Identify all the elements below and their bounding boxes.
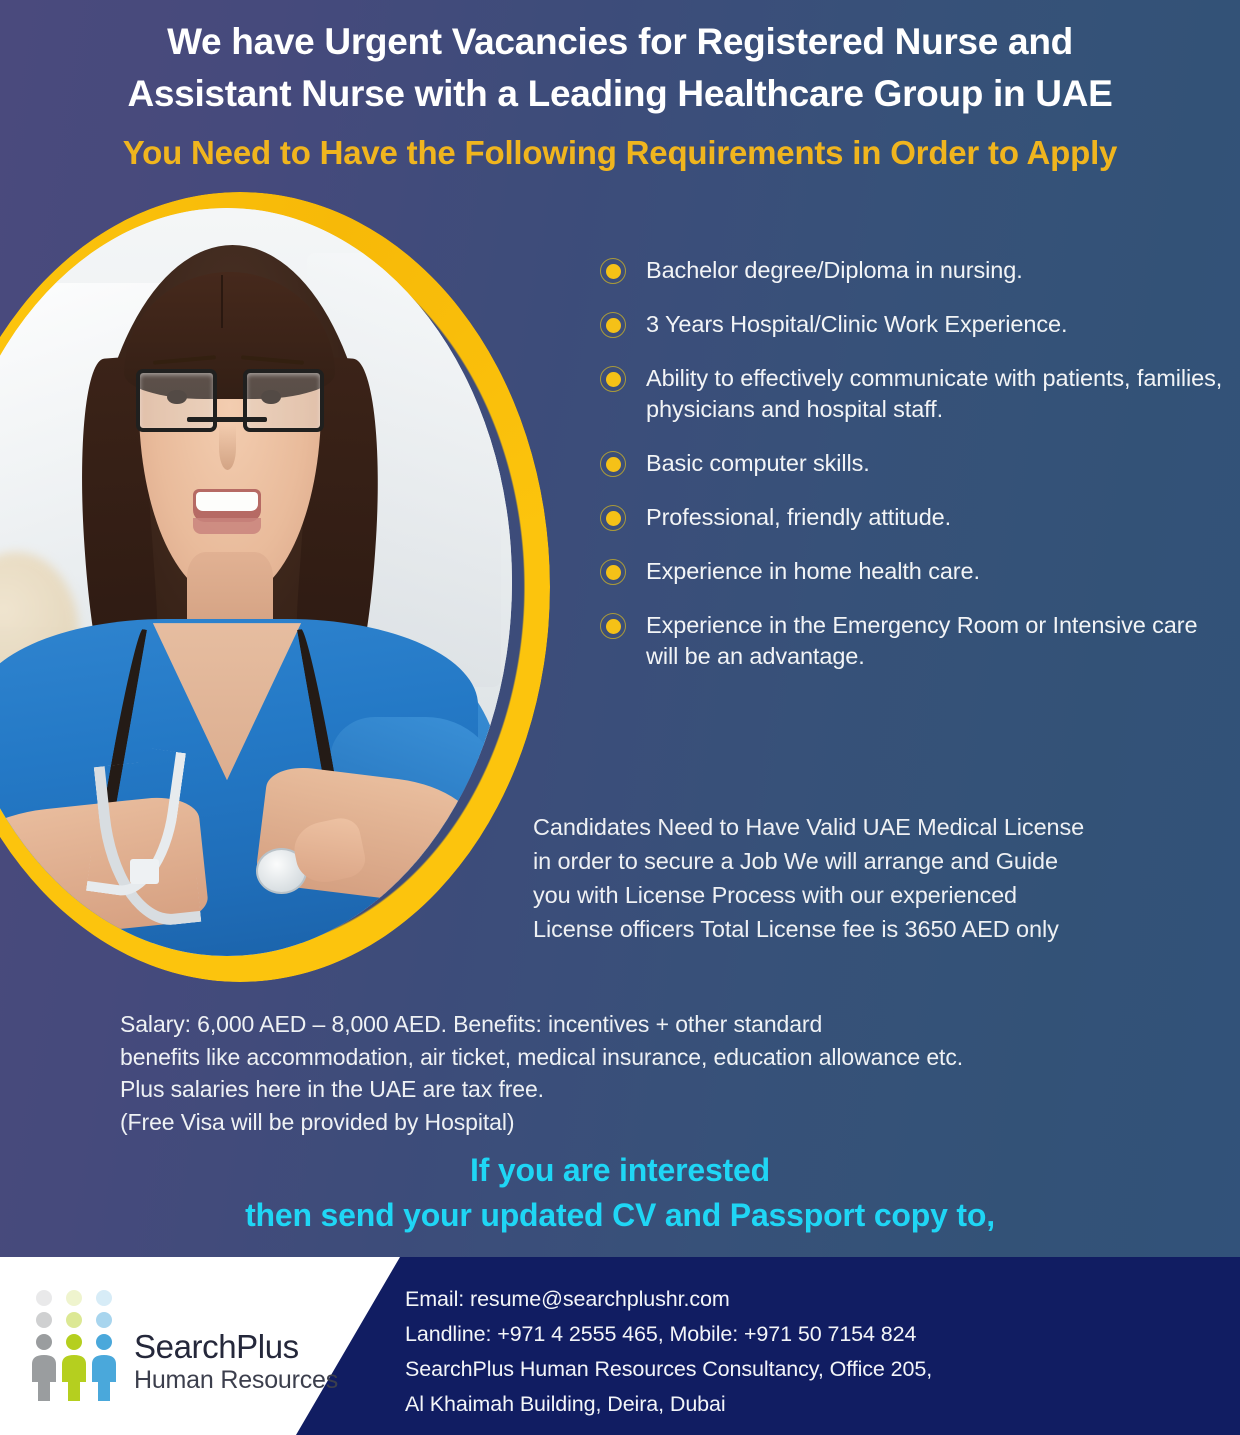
eyeglasses-icon (136, 369, 324, 433)
contact-email[interactable]: Email: resume@searchplushr.com (405, 1282, 932, 1317)
list-item: Basic computer skills. (600, 448, 1230, 479)
requirement-text: Bachelor degree/Diploma in nursing. (646, 255, 1023, 286)
salary-line-4: (Free Visa will be provided by Hospital) (120, 1106, 1180, 1139)
list-item: Bachelor degree/Diploma in nursing. (600, 255, 1230, 286)
list-item: Experience in home health care. (600, 556, 1230, 587)
list-item: Ability to effectively communicate with … (600, 363, 1230, 425)
cta-line-2: then send your updated CV and Passport c… (0, 1193, 1240, 1238)
lower-lip (193, 518, 261, 534)
bullet-dot-icon (600, 613, 626, 639)
glasses-bridge (187, 417, 267, 422)
requirement-text: Basic computer skills. (646, 448, 870, 479)
lens-right (243, 369, 324, 433)
list-item: Professional, friendly attitude. (600, 502, 1230, 533)
salary-benefits-block: Salary: 6,000 AED – 8,000 AED. Benefits:… (120, 1008, 1180, 1138)
requirement-text: Experience in the Emergency Room or Inte… (646, 610, 1230, 672)
requirements-subheading: You Need to Have the Following Requireme… (0, 133, 1240, 173)
logo-tagline: Human Resources (134, 1365, 338, 1395)
license-line-4: License officers Total License fee is 36… (533, 912, 1193, 946)
requirements-list: Bachelor degree/Diploma in nursing. 3 Ye… (600, 255, 1230, 695)
headline-line-1: We have Urgent Vacancies for Registered … (0, 16, 1240, 68)
salary-line-1: Salary: 6,000 AED – 8,000 AED. Benefits:… (120, 1008, 1180, 1041)
license-line-1: Candidates Need to Have Valid UAE Medica… (533, 810, 1193, 844)
license-line-3: you with License Process with our experi… (533, 878, 1193, 912)
poster-footer: SearchPlus Human Resources Email: resume… (0, 1257, 1240, 1435)
poster-header: We have Urgent Vacancies for Registered … (0, 16, 1240, 173)
people-group-icon (28, 1289, 120, 1401)
searchplus-logo: SearchPlus Human Resources (28, 1289, 338, 1401)
contact-address: Al Khaimah Building, Deira, Dubai (405, 1387, 932, 1422)
license-note: Candidates Need to Have Valid UAE Medica… (533, 810, 1193, 946)
requirement-text: Professional, friendly attitude. (646, 502, 951, 533)
list-item: Experience in the Emergency Room or Inte… (600, 610, 1230, 672)
people-group-svg (28, 1289, 120, 1401)
nurse-figure (0, 208, 512, 956)
license-line-2: in order to secure a Job We will arrange… (533, 844, 1193, 878)
contact-phones[interactable]: Landline: +971 4 2555 465, Mobile: +971 … (405, 1317, 932, 1352)
cta-line-1: If you are interested (0, 1148, 1240, 1193)
salary-line-3: Plus salaries here in the UAE are tax fr… (120, 1073, 1180, 1106)
nurse-photo (0, 208, 512, 956)
hair-part (221, 275, 223, 327)
bullet-dot-icon (600, 559, 626, 585)
nurse-photo-circle (0, 192, 550, 982)
lens-left (136, 369, 217, 433)
requirement-text: Ability to effectively communicate with … (646, 363, 1230, 425)
headline-line-2: Assistant Nurse with a Leading Healthcar… (0, 68, 1240, 120)
nose (219, 425, 236, 470)
list-item: 3 Years Hospital/Clinic Work Experience. (600, 309, 1230, 340)
teeth (196, 492, 258, 511)
requirement-text: 3 Years Hospital/Clinic Work Experience. (646, 309, 1067, 340)
salary-line-2: benefits like accommodation, air ticket,… (120, 1041, 1180, 1074)
stethoscope-clip (130, 859, 159, 884)
bullet-dot-icon (600, 312, 626, 338)
bullet-dot-icon (600, 366, 626, 392)
logo-company-name: SearchPlus (134, 1329, 338, 1365)
requirement-text: Experience in home health care. (646, 556, 980, 587)
job-vacancy-poster: We have Urgent Vacancies for Registered … (0, 0, 1240, 1435)
bullet-dot-icon (600, 505, 626, 531)
bullet-dot-icon (600, 451, 626, 477)
call-to-action: If you are interested then send your upd… (0, 1148, 1240, 1238)
logo-wordmark: SearchPlus Human Resources (134, 1329, 338, 1395)
bullet-dot-icon (600, 258, 626, 284)
contact-details: Email: resume@searchplushr.com Landline:… (405, 1282, 932, 1422)
contact-company: SearchPlus Human Resources Consultancy, … (405, 1352, 932, 1387)
